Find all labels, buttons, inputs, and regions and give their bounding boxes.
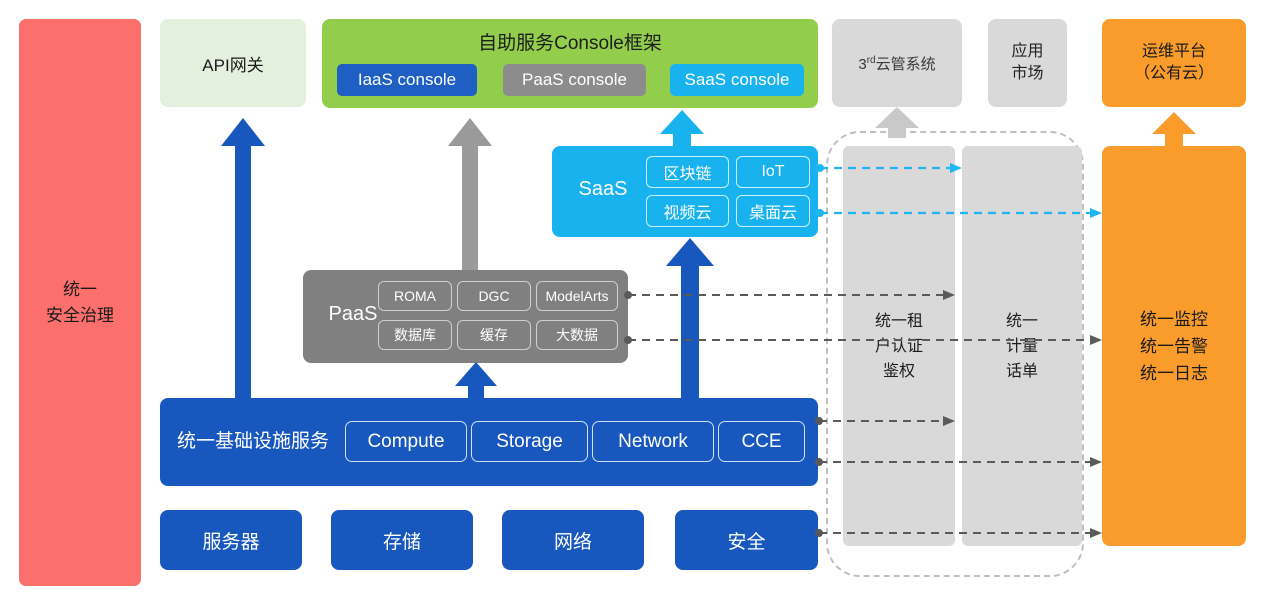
ops-platform-line1: 运维平台 xyxy=(1134,41,1214,63)
paas-service-chip[interactable]: ModelArts xyxy=(536,281,618,311)
self-service-console-framework-panel: 自助服务Console框架 IaaS console PaaS console … xyxy=(322,19,818,108)
saas-service-chip[interactable]: 区块链 xyxy=(646,156,729,188)
security-panel-line2: 安全治理 xyxy=(46,303,114,329)
paas-console-chip[interactable]: PaaS console xyxy=(503,64,646,96)
unified-tenant-auth-column: 统一租 户认证 鉴权 xyxy=(843,146,955,546)
arrow-infra-to-saas xyxy=(666,238,714,398)
ops-platform-box: 运维平台 （公有云） xyxy=(1102,19,1246,107)
infrastructure-chip[interactable]: Storage xyxy=(471,421,588,462)
metering-line1: 统一 xyxy=(1006,309,1038,334)
infrastructure-label: 统一基础设施服务 xyxy=(177,426,329,453)
ops-monitoring-panel: 统一监控 统一告警 统一日志 xyxy=(1102,146,1246,546)
iaas-console-chip[interactable]: IaaS console xyxy=(337,64,477,96)
third-party-cloud-management-box: 3rd云管系统 xyxy=(832,19,962,107)
unified-security-governance-panel: 统一 安全治理 xyxy=(19,19,141,586)
security-panel-line1: 统一 xyxy=(46,277,114,303)
architecture-diagram: 统一 安全治理 API网关 自助服务Console框架 IaaS console… xyxy=(0,0,1265,605)
paas-layer-panel: PaaS ROMA DGC ModelArts 数据库 缓存 大数据 xyxy=(303,270,628,363)
arrow-infra-to-paas xyxy=(455,362,497,398)
arrow-ops-detail-to-ops-platform xyxy=(1152,112,1196,146)
hardware-box-network: 网络 xyxy=(502,510,644,570)
saas-service-chip[interactable]: 桌面云 xyxy=(736,195,810,227)
third-cloud-label: 3rd云管系统 xyxy=(858,53,935,74)
hardware-box-server: 服务器 xyxy=(160,510,302,570)
saas-service-chip[interactable]: IoT xyxy=(736,156,810,188)
saas-layer-panel: SaaS 区块链 IoT 视频云 桌面云 xyxy=(552,146,818,237)
tenant-auth-line2: 户认证 xyxy=(875,334,923,359)
infrastructure-chip[interactable]: CCE xyxy=(718,421,805,462)
tenant-auth-line1: 统一租 xyxy=(875,309,923,334)
paas-service-chip[interactable]: DGC xyxy=(457,281,531,311)
arrow-saas-to-console xyxy=(660,110,704,148)
infrastructure-chip[interactable]: Network xyxy=(592,421,714,462)
saas-layer-label: SaaS xyxy=(564,178,642,201)
ops-detail-line2: 统一告警 xyxy=(1140,333,1208,360)
arrow-infra-to-api-gateway xyxy=(221,118,265,398)
paas-service-chip[interactable]: ROMA xyxy=(378,281,452,311)
arrow-paas-to-console xyxy=(448,118,492,270)
hardware-box-storage: 存储 xyxy=(331,510,473,570)
paas-service-chip[interactable]: 数据库 xyxy=(378,320,452,350)
ops-detail-line1: 统一监控 xyxy=(1140,306,1208,333)
console-framework-title: 自助服务Console框架 xyxy=(322,28,818,55)
infrastructure-chip[interactable]: Compute xyxy=(345,421,467,462)
hardware-box-security: 安全 xyxy=(675,510,818,570)
ops-platform-line2: （公有云） xyxy=(1134,63,1214,85)
ops-detail-line3: 统一日志 xyxy=(1140,360,1208,387)
saas-service-chip[interactable]: 视频云 xyxy=(646,195,729,227)
tenant-auth-line3: 鉴权 xyxy=(875,359,923,384)
unified-infrastructure-service-panel: 统一基础设施服务 Compute Storage Network CCE xyxy=(160,398,818,486)
metering-line2: 计量 xyxy=(1006,334,1038,359)
saas-console-chip[interactable]: SaaS console xyxy=(670,64,804,96)
application-market-box: 应用 市场 xyxy=(988,19,1067,107)
metering-line3: 话单 xyxy=(1006,359,1038,384)
unified-metering-billing-column: 统一 计量 话单 xyxy=(962,146,1082,546)
api-gateway-box: API网关 xyxy=(160,19,306,107)
app-market-line2: 市场 xyxy=(1011,63,1043,85)
app-market-line1: 应用 xyxy=(1011,41,1043,63)
api-gateway-label: API网关 xyxy=(202,51,263,76)
paas-service-chip[interactable]: 缓存 xyxy=(457,320,531,350)
paas-service-chip[interactable]: 大数据 xyxy=(536,320,618,350)
